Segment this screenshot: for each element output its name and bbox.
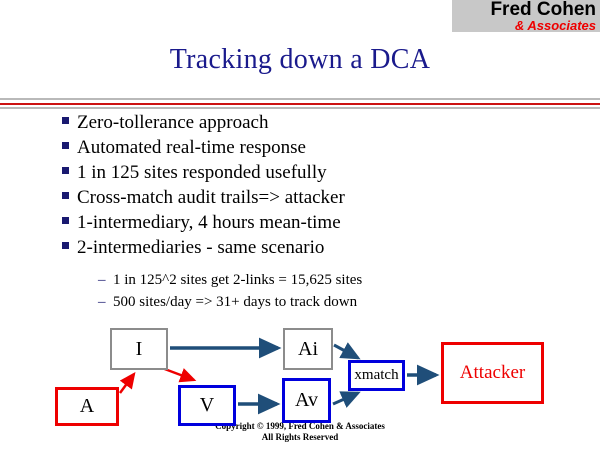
divider-rule-top	[0, 98, 600, 100]
bullet-item: 2-intermediaries - same scenario	[62, 237, 532, 262]
diagram-node-attacker: Attacker	[441, 342, 544, 404]
bullet-item-label: Cross-match audit trails=> attacker	[77, 187, 345, 209]
bullet-item: 1-intermediary, 4 hours mean-time	[62, 212, 532, 237]
bullet-item-label: 2-intermediaries - same scenario	[77, 237, 324, 259]
diagram-node-xmatch: xmatch	[348, 360, 405, 391]
brand-logo: Fred Cohen & Associates	[452, 0, 600, 32]
bullet-item: Cross-match audit trails=> attacker	[62, 187, 532, 212]
diagram-node-av: Av	[282, 378, 331, 423]
bullet-item: Zero-tollerance approach	[62, 112, 532, 137]
diagram-node-v: V	[178, 385, 236, 426]
slide-title: Tracking down a DCA	[0, 44, 600, 76]
bullet-item-label: 1 in 125 sites responded usefully	[77, 162, 327, 184]
bullet-list: Zero-tollerance approach Automated real-…	[62, 112, 532, 262]
bullet-item-label: 1-intermediary, 4 hours mean-time	[77, 212, 341, 234]
edge-i-to-v	[162, 368, 194, 380]
bullet-item: 1 in 125 sites responded usefully	[62, 162, 532, 187]
square-bullet-icon	[62, 142, 69, 149]
copyright-footer: Copyright © 1999, Fred Cohen & Associate…	[0, 421, 600, 443]
divider-rule-bottom	[0, 107, 600, 109]
brand-tagline: & Associates	[452, 19, 600, 32]
edge-a-to-i	[120, 374, 134, 393]
sub-bullet-item: – 500 sites/day => 31+ days to track dow…	[98, 294, 538, 316]
square-bullet-icon	[62, 242, 69, 249]
dash-bullet-icon: –	[98, 273, 107, 288]
square-bullet-icon	[62, 217, 69, 224]
copyright-line-1: Copyright © 1999, Fred Cohen & Associate…	[0, 421, 600, 432]
diagram-node-ai: Ai	[283, 328, 333, 370]
brand-name: Fred Cohen	[452, 0, 600, 19]
diagram-node-i: I	[110, 328, 168, 370]
divider-rule-accent	[0, 103, 600, 105]
bullet-item: Automated real-time response	[62, 137, 532, 162]
square-bullet-icon	[62, 167, 69, 174]
sub-bullet-item-label: 500 sites/day => 31+ days to track down	[113, 294, 357, 311]
dash-bullet-icon: –	[98, 295, 107, 310]
sub-bullet-list: – 1 in 125^2 sites get 2-links = 15,625 …	[98, 272, 538, 316]
bullet-item-label: Zero-tollerance approach	[77, 112, 268, 134]
sub-bullet-item: – 1 in 125^2 sites get 2-links = 15,625 …	[98, 272, 538, 294]
edge-av-to-xmatch	[333, 393, 358, 404]
bullet-item-label: Automated real-time response	[77, 137, 306, 159]
sub-bullet-item-label: 1 in 125^2 sites get 2-links = 15,625 si…	[113, 272, 362, 289]
copyright-line-2: All Rights Reserved	[0, 432, 600, 443]
edge-ai-to-xmatch	[334, 345, 358, 358]
square-bullet-icon	[62, 117, 69, 124]
square-bullet-icon	[62, 192, 69, 199]
